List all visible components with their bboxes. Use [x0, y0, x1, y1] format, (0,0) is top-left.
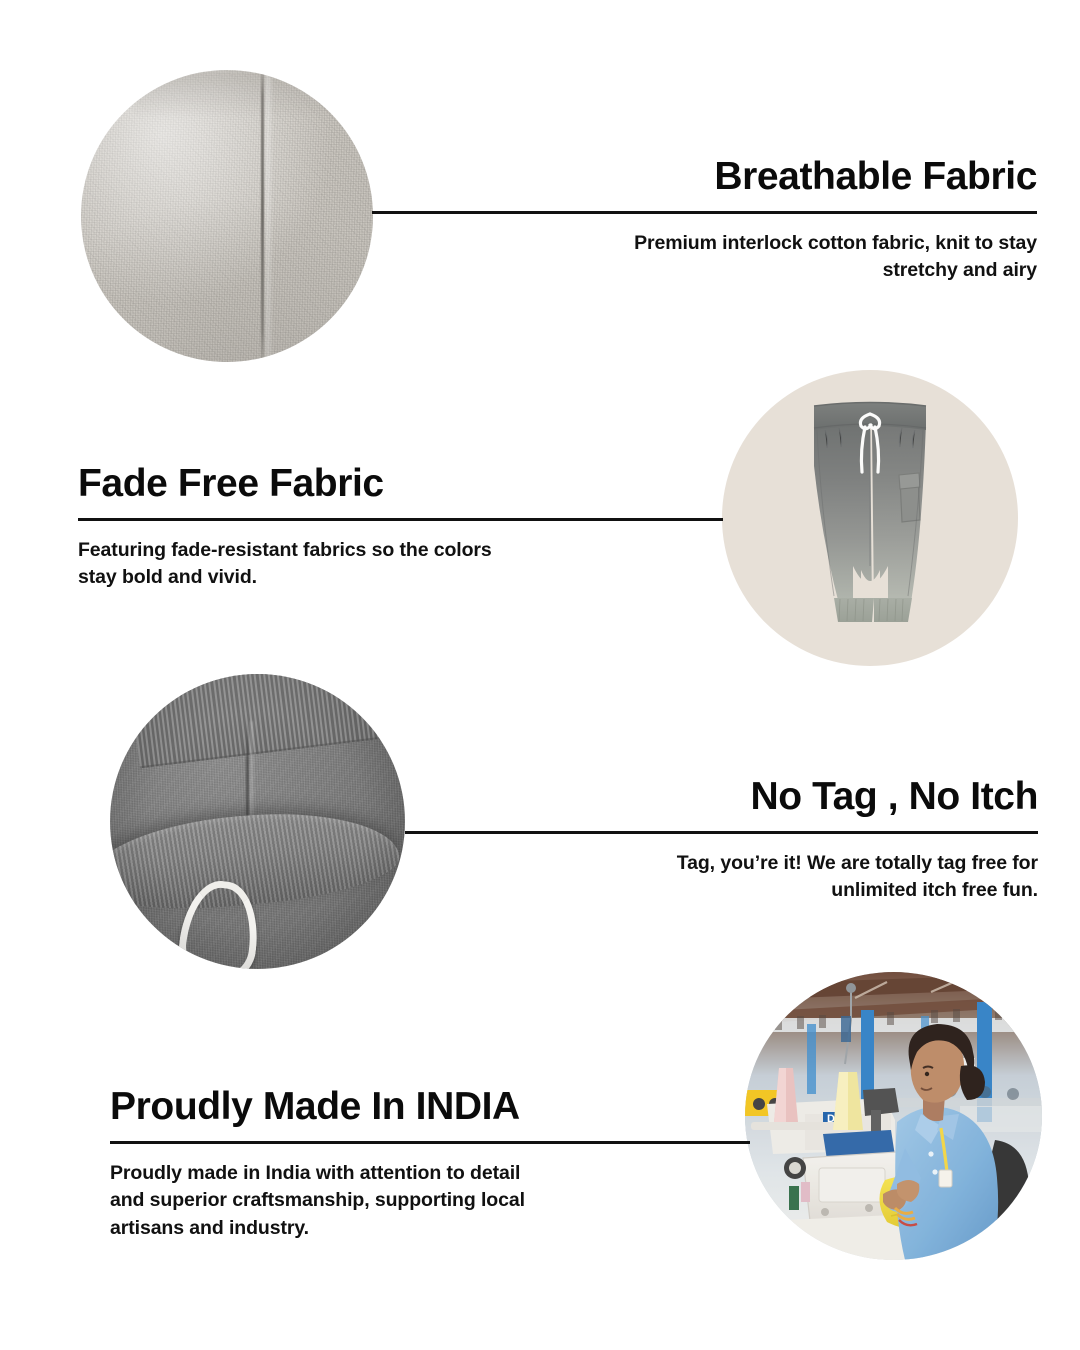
feature-fade-free-fabric: Fade Free Fabric Featuring fade-resistan… — [78, 462, 723, 592]
feature-description: Premium interlock cotton fabric, knit to… — [372, 230, 1037, 285]
feature-divider-rule — [78, 518, 723, 521]
feature-description: Featuring fade-resistant fabrics so the … — [78, 537, 723, 592]
garment-factory-worker-photo-image: D — [745, 972, 1042, 1260]
feature-divider-rule — [110, 1141, 750, 1144]
feature-title: Proudly Made In INDIA — [110, 1085, 750, 1129]
grey-jogger-pants-illustration-image — [722, 370, 1018, 666]
feature-title: No Tag , No Itch — [405, 775, 1038, 819]
feature-infographic: Breathable Fabric Premium interlock cott… — [0, 0, 1080, 1350]
waistband-drawstring-closeup-image — [110, 674, 405, 969]
feature-breathable-fabric: Breathable Fabric Premium interlock cott… — [372, 155, 1037, 285]
feature-title: Breathable Fabric — [372, 155, 1037, 199]
photo-vignette — [110, 674, 405, 969]
feature-description: Proudly made in India with attention to … — [110, 1160, 750, 1243]
factory-scene-illustration: D — [745, 972, 1042, 1260]
fabric-bottom-shadow — [81, 70, 373, 362]
jogger-pants-icon — [722, 370, 1018, 666]
feature-divider-rule — [405, 831, 1038, 834]
feature-title: Fade Free Fabric — [78, 462, 723, 506]
feature-no-tag-no-itch: No Tag , No Itch Tag, you’re it! We are … — [405, 775, 1038, 905]
feature-description: Tag, you’re it! We are totally tag free … — [405, 850, 1038, 905]
fabric-closeup-light-grey-image — [81, 70, 373, 362]
feature-proudly-made-in-india: Proudly Made In INDIA Proudly made in In… — [110, 1085, 750, 1243]
feature-divider-rule — [372, 211, 1037, 214]
